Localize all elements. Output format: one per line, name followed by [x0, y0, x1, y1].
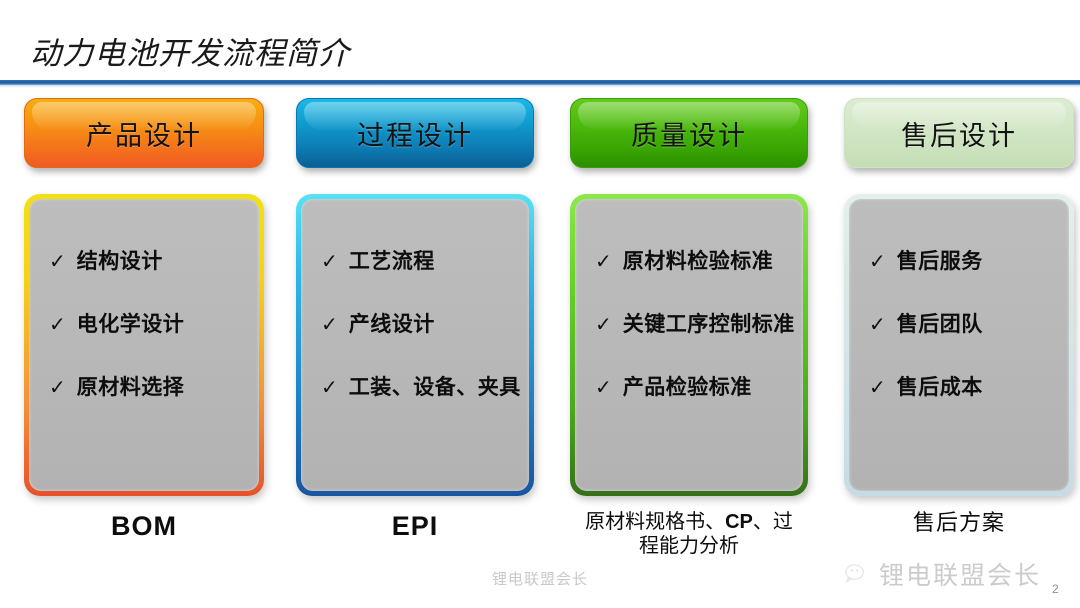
watermark-brand: 锂电联盟会长 [845, 556, 1041, 592]
body-card-process-design: ✓ 工艺流程 ✓ 产线设计 ✓ 工装、设备、夹具 [296, 194, 534, 496]
caption-text-c: 、过 [753, 511, 793, 533]
caption-text: 售后方案 [913, 510, 1005, 535]
check-icon: ✓ [869, 378, 886, 398]
caption-text-a: 原材料规格书、 [585, 511, 725, 533]
header-label: 售后设计 [901, 114, 1017, 153]
list-item-label: 工艺流程 [349, 245, 435, 275]
check-icon: ✓ [595, 252, 612, 272]
list-item-label: 售后成本 [897, 371, 983, 401]
list-item: ✓ 工装、设备、夹具 [321, 371, 529, 401]
header-label: 过程设计 [357, 114, 473, 153]
header-pill-quality-design[interactable]: 质量设计 [570, 98, 808, 168]
column-product-design: 产品设计 ✓ 结构设计 ✓ 电化学设计 ✓ 原材料选择 BOM [24, 98, 264, 543]
list-item-label: 售后服务 [897, 245, 983, 275]
header-pill-aftersales-design[interactable]: 售后设计 [844, 98, 1074, 168]
caption-line-2: 程能力分析 [570, 534, 808, 558]
wechat-icon [845, 564, 872, 585]
list-item: ✓ 工艺流程 [321, 245, 529, 275]
check-icon: ✓ [321, 378, 338, 398]
list-item: ✓ 结构设计 [49, 245, 259, 275]
list-item: ✓ 原材料检验标准 [595, 245, 803, 275]
list-item: ✓ 关键工序控制标准 [595, 308, 803, 338]
column-caption-product-design: BOM [24, 510, 264, 543]
list-item-label: 原材料检验标准 [623, 245, 774, 275]
check-icon: ✓ [49, 315, 66, 335]
caption-line-1: 原材料规格书、CP、过 [570, 510, 808, 534]
check-icon: ✓ [595, 315, 612, 335]
list-item: ✓ 售后服务 [869, 245, 1069, 275]
list-item-label: 工装、设备、夹具 [349, 371, 521, 401]
card-inner: ✓ 工艺流程 ✓ 产线设计 ✓ 工装、设备、夹具 [301, 199, 529, 491]
check-icon: ✓ [869, 315, 886, 335]
list-item-label: 售后团队 [897, 308, 983, 338]
check-icon: ✓ [321, 252, 338, 272]
page-number: 2 [1052, 582, 1059, 596]
body-card-quality-design: ✓ 原材料检验标准 ✓ 关键工序控制标准 ✓ 产品检验标准 [570, 194, 808, 496]
check-icon: ✓ [869, 252, 886, 272]
body-card-aftersales-design: ✓ 售后服务 ✓ 售后团队 ✓ 售后成本 [844, 194, 1074, 496]
list-item-label: 结构设计 [77, 245, 163, 275]
caption-text: BOM [111, 511, 177, 541]
column-caption-process-design: EPI [296, 510, 534, 543]
list-item-label: 关键工序控制标准 [623, 308, 795, 338]
column-caption-aftersales-design: 售后方案 [844, 510, 1074, 537]
column-quality-design: 质量设计 ✓ 原材料检验标准 ✓ 关键工序控制标准 ✓ 产品检验标准 原材料规格… [570, 98, 808, 559]
check-icon: ✓ [595, 378, 612, 398]
body-card-product-design: ✓ 结构设计 ✓ 电化学设计 ✓ 原材料选择 [24, 194, 264, 496]
card-inner: ✓ 原材料检验标准 ✓ 关键工序控制标准 ✓ 产品检验标准 [575, 199, 803, 491]
list-item: ✓ 售后团队 [869, 308, 1069, 338]
card-inner: ✓ 结构设计 ✓ 电化学设计 ✓ 原材料选择 [29, 199, 259, 491]
check-icon: ✓ [321, 315, 338, 335]
header-label: 产品设计 [86, 114, 202, 153]
header-pill-product-design[interactable]: 产品设计 [24, 98, 264, 168]
list-item-label: 原材料选择 [77, 371, 185, 401]
card-inner: ✓ 售后服务 ✓ 售后团队 ✓ 售后成本 [849, 199, 1069, 491]
caption-text: EPI [392, 511, 439, 541]
header-pill-process-design[interactable]: 过程设计 [296, 98, 534, 168]
list-item: ✓ 原材料选择 [49, 371, 259, 401]
title-divider-rule-soft [0, 85, 1080, 88]
page-title: 动力电池开发流程简介 [30, 28, 350, 73]
check-icon: ✓ [49, 252, 66, 272]
watermark-brand-label: 锂电联盟会长 [879, 556, 1041, 592]
list-item: ✓ 产品检验标准 [595, 371, 803, 401]
column-process-design: 过程设计 ✓ 工艺流程 ✓ 产线设计 ✓ 工装、设备、夹具 EPI [296, 98, 534, 543]
column-aftersales-design: 售后设计 ✓ 售后服务 ✓ 售后团队 ✓ 售后成本 售后方案 [844, 98, 1074, 537]
list-item-label: 产线设计 [349, 308, 435, 338]
list-item: ✓ 电化学设计 [49, 308, 259, 338]
list-item: ✓ 产线设计 [321, 308, 529, 338]
caption-text-cp: CP [725, 511, 753, 533]
list-item: ✓ 售后成本 [869, 371, 1069, 401]
list-item-label: 产品检验标准 [623, 371, 752, 401]
column-caption-quality-design: 原材料规格书、CP、过 程能力分析 [570, 510, 808, 559]
list-item-label: 电化学设计 [77, 308, 185, 338]
header-label: 质量设计 [631, 114, 747, 153]
check-icon: ✓ [49, 378, 66, 398]
